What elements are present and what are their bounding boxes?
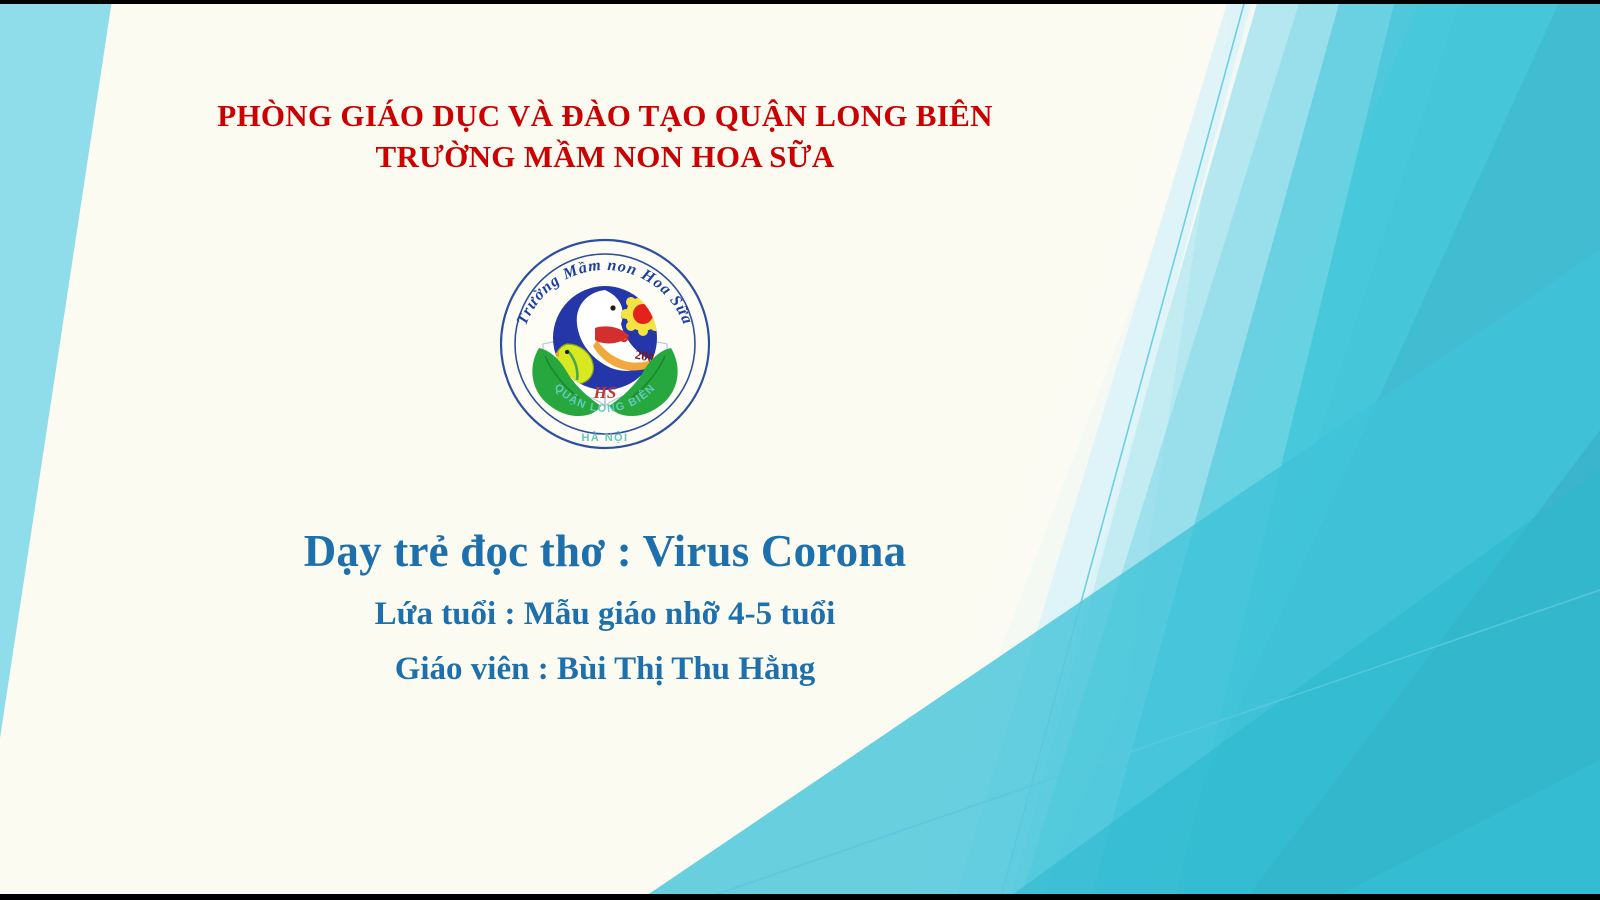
age-group-line: Lứa tuổi : Mẫu giáo nhỡ 4-5 tuổi bbox=[55, 595, 1155, 635]
presentation-slide: PHÒNG GIÁO DỤC VÀ ĐÀO TẠO QUẬN LONG BIÊN… bbox=[0, 0, 1600, 900]
slide-content: PHÒNG GIÁO DỤC VÀ ĐÀO TẠO QUẬN LONG BIÊN… bbox=[0, 0, 1210, 900]
teacher-line: Giáo viên : Bùi Thị Thu Hằng bbox=[55, 650, 1155, 690]
logo-monogram: HS bbox=[593, 383, 617, 402]
lesson-title: Dạy trẻ đọc thơ : Virus Corona bbox=[55, 526, 1155, 578]
title-block: Dạy trẻ đọc thơ : Virus Corona Lứa tuổi … bbox=[55, 526, 1155, 690]
school-header: PHÒNG GIÁO DỤC VÀ ĐÀO TẠO QUẬN LONG BIÊN… bbox=[105, 96, 1105, 178]
school-header-line2: TRƯỜNG MẦM NON HOA SỮA bbox=[105, 137, 1105, 178]
school-logo-graphic: Trường Mầm non Hoa Sữa bbox=[497, 228, 713, 460]
school-header-line1: PHÒNG GIÁO DỤC VÀ ĐÀO TẠO QUẬN LONG BIÊN bbox=[217, 98, 993, 133]
right-deep-teal-overlay bbox=[1150, 0, 1600, 900]
letterbox-bar-bottom bbox=[0, 894, 1600, 900]
right-deep-teal-panel bbox=[1168, 0, 1600, 900]
school-logo: Trường Mầm non Hoa Sữa bbox=[497, 228, 713, 460]
letterbox-bar-top bbox=[0, 0, 1600, 4]
logo-bottom-text-line2: HÀ NỘI bbox=[582, 431, 629, 444]
